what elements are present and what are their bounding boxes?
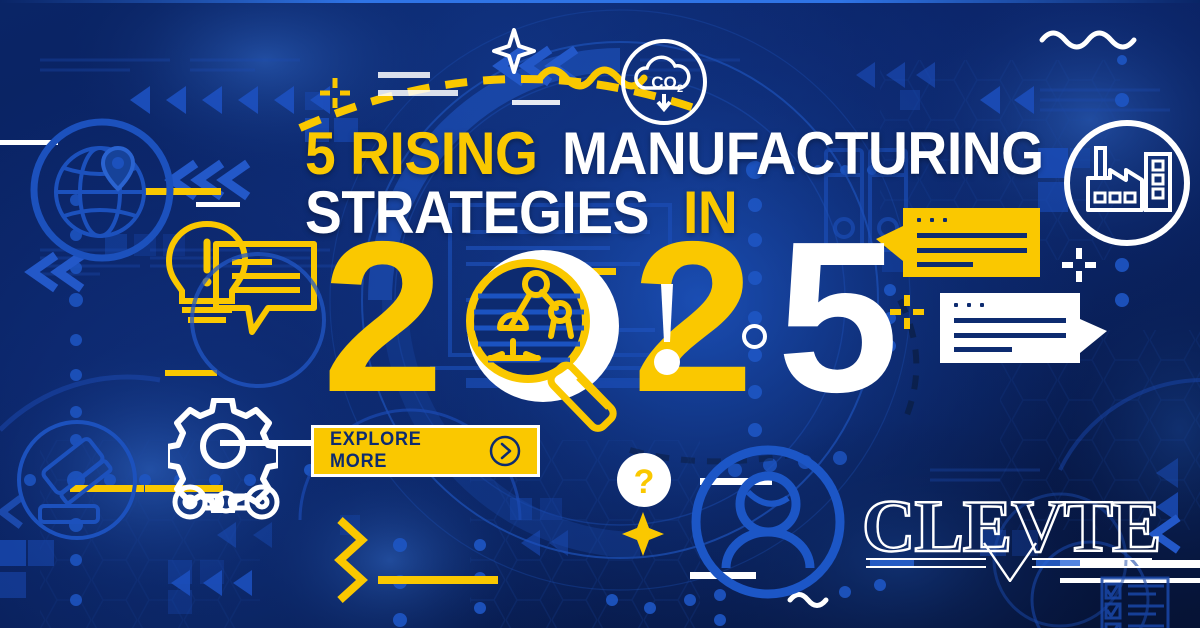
bubble-line — [954, 333, 1066, 338]
chain-link-icon — [170, 478, 282, 526]
bubble-line — [917, 262, 973, 267]
bubble-line — [954, 318, 1066, 323]
logo-wordmark: CLEVTEC — [862, 487, 1160, 568]
globe-location-pin-icon — [30, 118, 175, 263]
decor-circle — [188, 250, 328, 390]
top-edge-accent — [0, 0, 1200, 3]
headline-keyword-2: STRATEGIES — [305, 187, 649, 240]
explore-more-button[interactable]: EXPLORE MORE — [311, 425, 540, 477]
question-mark-icon: ? — [616, 452, 672, 508]
headline-line-1: 5 RISING MANUFACTURING — [305, 128, 985, 181]
year-digit-1: 2 — [322, 232, 444, 402]
headline-line-2: STRATEGIES IN — [305, 187, 985, 240]
bubble-dots — [954, 303, 984, 307]
svg-text:2: 2 — [677, 83, 683, 95]
exclamation-mark-icon — [647, 280, 687, 380]
bubble-line — [917, 248, 1027, 253]
page-title: 5 RISING MANUFACTURING STRATEGIES IN — [305, 128, 985, 240]
headline-prefix: 5 RISING — [305, 128, 538, 181]
circle-arrow-right-icon[interactable] — [489, 435, 521, 467]
decor-ring — [742, 324, 767, 349]
year-2025: 2 2 5 — [322, 232, 912, 404]
sparkle-icon — [320, 78, 350, 108]
headline-keyword: MANUFACTURING — [562, 128, 1044, 181]
cta-label: EXPLORE MORE — [330, 429, 481, 473]
clevtec-logo[interactable]: CLEVTEC — [860, 487, 1160, 582]
headline-suffix: IN — [683, 187, 737, 240]
bubble-line — [954, 347, 1012, 352]
magnifying-glass-icon — [450, 246, 650, 436]
sparkle-icon — [492, 28, 536, 74]
factory-building-icon — [1062, 118, 1192, 248]
bubble-tail — [1080, 319, 1107, 353]
chat-bubble-white — [940, 293, 1080, 363]
gavel-icon — [12, 418, 142, 548]
year-digit-4: 5 — [777, 232, 899, 402]
user-avatar-icon — [688, 442, 848, 602]
svg-text:?: ? — [634, 463, 655, 501]
sparkle-icon — [1062, 248, 1096, 282]
co2-cloud-down-arrow-icon: CO 2 — [620, 38, 708, 126]
svg-text:CO: CO — [651, 73, 677, 92]
sparkle-icon — [620, 510, 666, 558]
marketing-banner: CO 2 — [0, 0, 1200, 628]
